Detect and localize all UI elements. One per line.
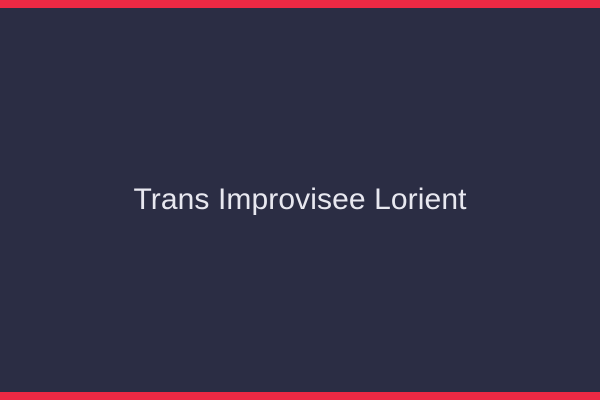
bottom-accent-bar [0, 392, 600, 400]
card-body: Trans Improvisee Lorient [0, 8, 600, 392]
placeholder-card: Trans Improvisee Lorient [0, 0, 600, 400]
top-accent-bar [0, 0, 600, 8]
card-title: Trans Improvisee Lorient [117, 183, 482, 218]
